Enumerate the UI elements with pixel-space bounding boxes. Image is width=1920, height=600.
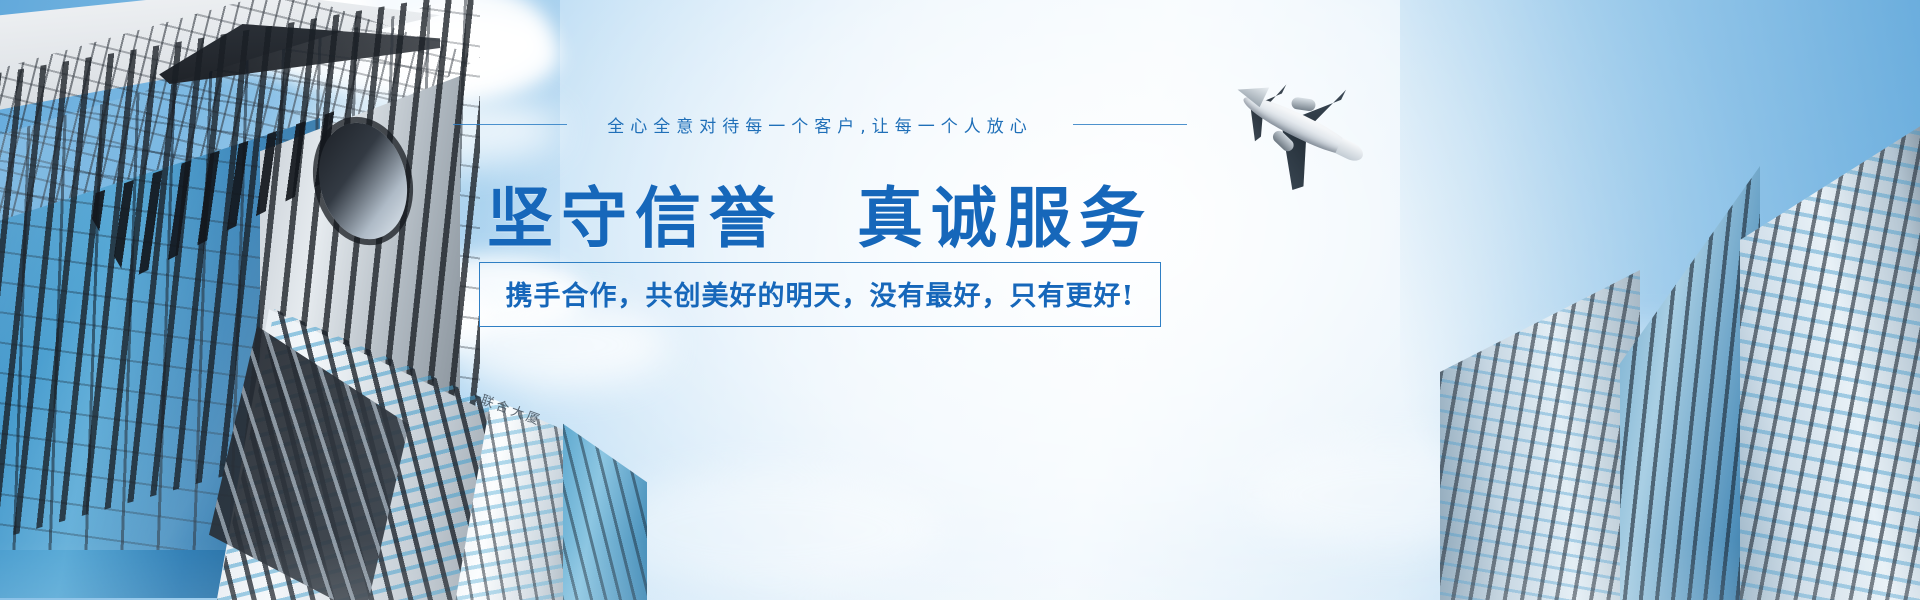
- hero-banner: 联合大厦 全心全意对待每一个客户,让每一个人放心 坚守信誉 真诚服务 携手合作，…: [0, 0, 1920, 600]
- subtitle-text: 携手合作，共创美好的明天，没有最好，只有更好!: [479, 262, 1162, 327]
- tagline-rule-left: [453, 124, 567, 125]
- headline-text: 坚守信誉 真诚服务: [0, 165, 1640, 261]
- bottom-fade: [0, 540, 1920, 600]
- banner-copy: 全心全意对待每一个客户,让每一个人放心 坚守信誉 真诚服务 携手合作，共创美好的…: [0, 0, 1920, 600]
- tagline-text: 全心全意对待每一个客户,让每一个人放心: [607, 112, 1032, 137]
- subtitle-wrapper: 携手合作，共创美好的明天，没有最好，只有更好!: [0, 262, 1640, 327]
- tagline-rule-right: [1073, 124, 1187, 125]
- tagline-row: 全心全意对待每一个客户,让每一个人放心: [0, 112, 1640, 137]
